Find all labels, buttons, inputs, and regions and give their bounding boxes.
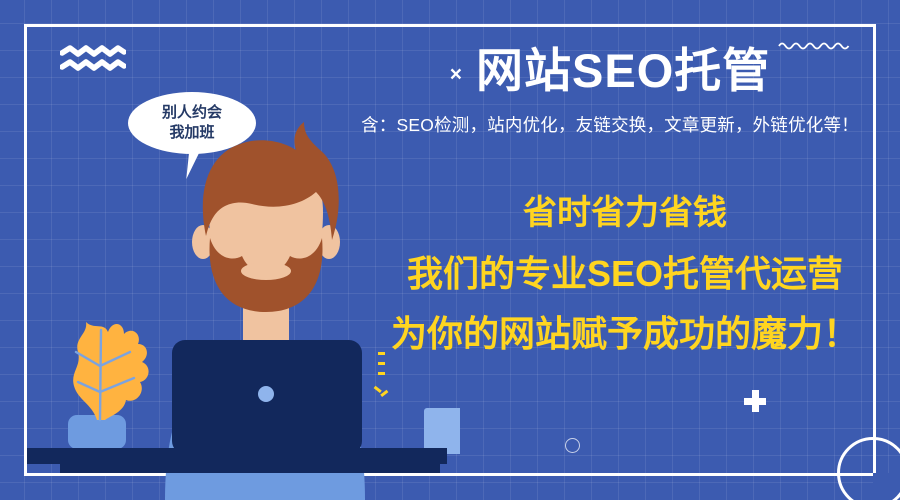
plant-leaf <box>73 322 148 420</box>
sparkle-ticks <box>374 352 389 397</box>
speech-bubble-line-2: 我加班 <box>169 123 214 143</box>
speech-bubble: 别人约会 我加班 <box>128 92 256 154</box>
speech-bubble-line-1: 别人约会 <box>162 103 222 123</box>
desk-edge <box>60 462 440 473</box>
small-ring-icon <box>565 438 580 453</box>
plus-mark-icon <box>744 390 766 412</box>
seo-promo-banner: 别人约会 我加班 × 网站SEO托管 含：SEO检测，站内优化，友链交换，文章更… <box>0 0 900 500</box>
page-title: 网站SEO托管 <box>476 44 770 98</box>
plant-pot <box>68 415 126 449</box>
thin-sine-wave-icon <box>778 40 852 52</box>
character-mouth <box>241 262 291 280</box>
laptop-camera-dot <box>258 386 274 402</box>
illustration-group <box>0 0 460 500</box>
